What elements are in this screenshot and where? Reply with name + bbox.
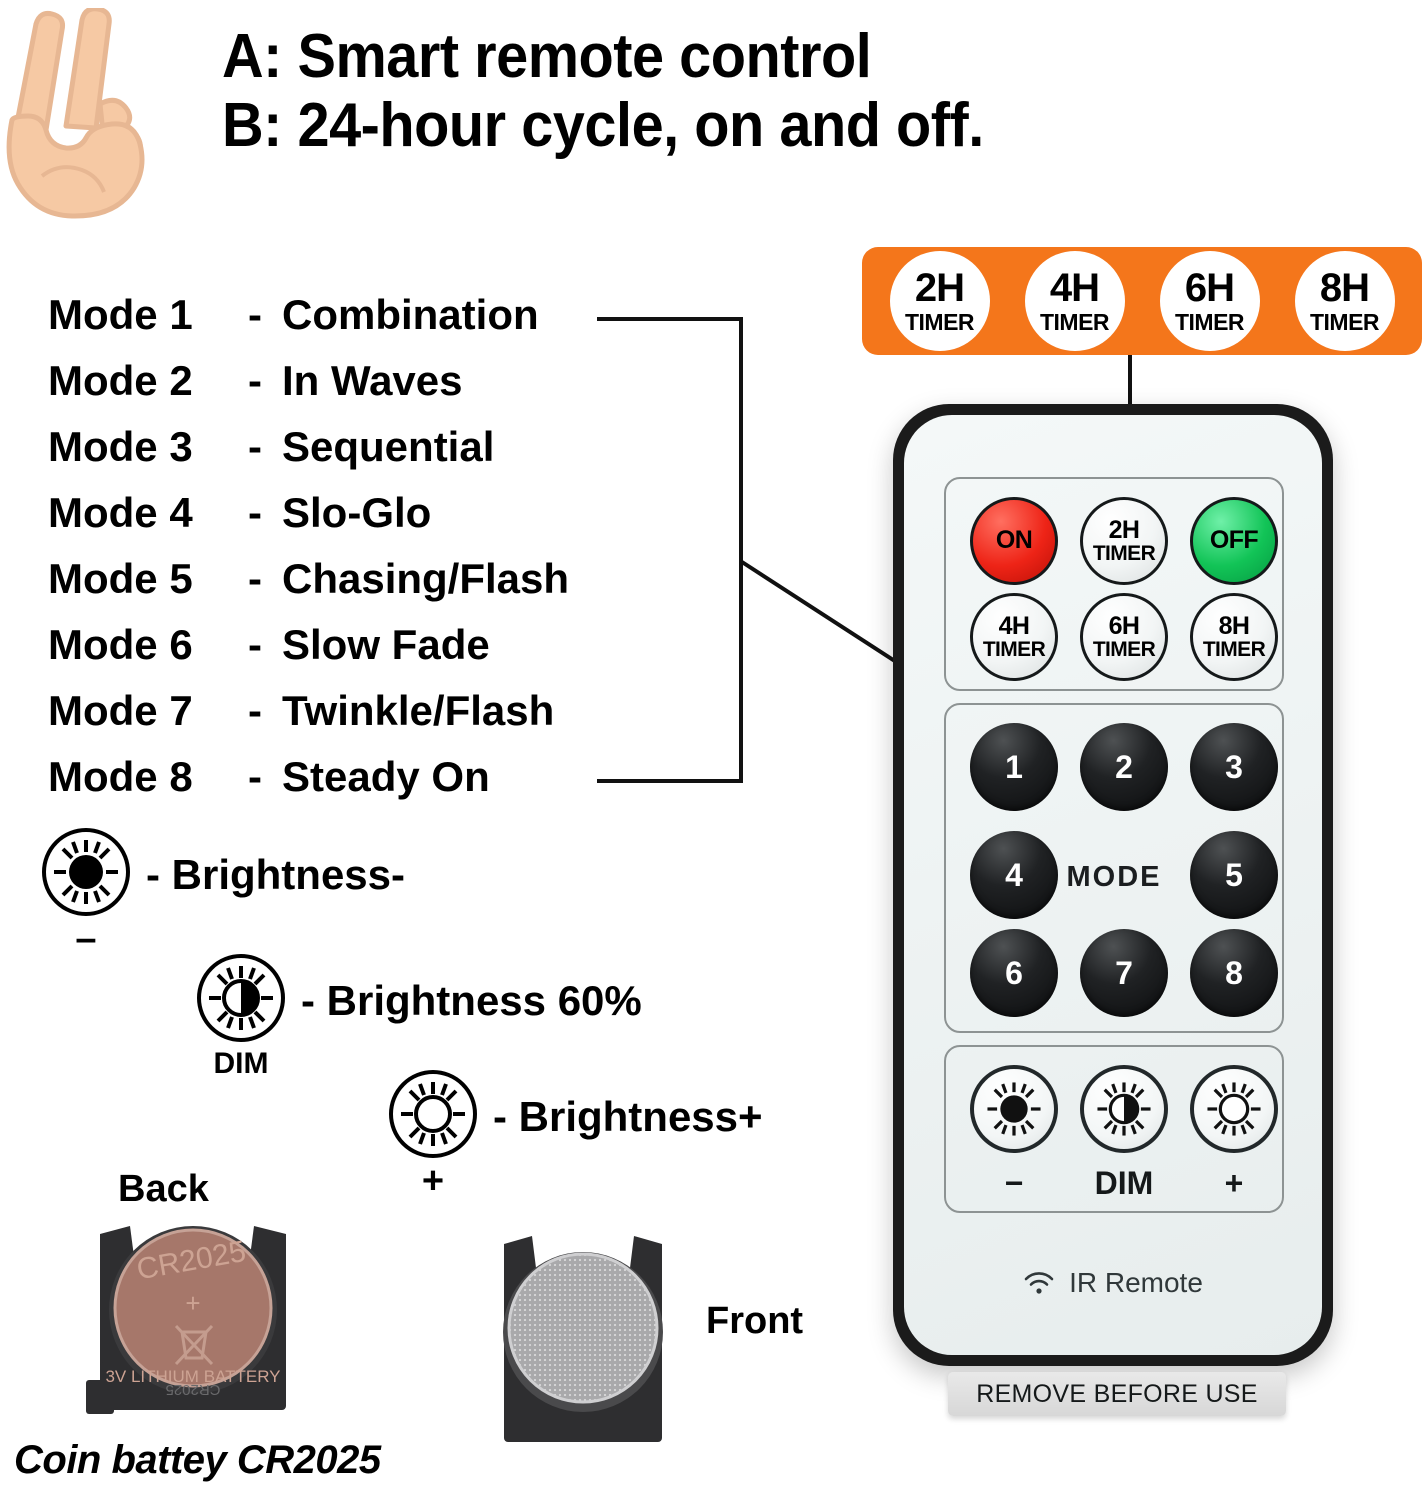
timer-8h-hours: 8H — [1219, 612, 1250, 640]
timer-6h-word: TIMER — [1093, 639, 1155, 660]
timer-chip-hours: 2H — [915, 268, 964, 308]
timer-chip-hours: 6H — [1185, 268, 1234, 308]
timer-2h-word: TIMER — [1093, 543, 1155, 564]
legend-label: - Brightness- — [146, 851, 405, 899]
mode-row: Mode 7 - Twinkle/Flash — [48, 678, 668, 744]
svg-text:+: + — [185, 1288, 200, 1318]
mode-dash: - — [248, 744, 282, 810]
timer-8h-button[interactable]: 8H TIMER — [1190, 593, 1278, 681]
legend-sub-dim: DIM — [195, 1047, 287, 1081]
timer-4h-hours: 4H — [999, 612, 1030, 640]
dim-mid-button[interactable] — [1080, 1065, 1168, 1153]
on-button[interactable]: ON — [970, 497, 1058, 585]
timer-chip-word: TIMER — [1175, 311, 1244, 334]
timer-4h-button[interactable]: 4H TIMER — [970, 593, 1058, 681]
timer-chip-6h[interactable]: 6H TIMER — [1160, 251, 1260, 351]
mode-list: Mode 1 - Combination Mode 2 - In Waves M… — [48, 282, 668, 810]
timer-chip-word: TIMER — [1040, 311, 1109, 334]
dim-minus-caption: − — [970, 1165, 1058, 1202]
legend-label: - Brightness+ — [493, 1093, 763, 1141]
remove-before-use-tab[interactable]: REMOVE BEFORE USE — [948, 1372, 1286, 1416]
mode-number: Mode 6 — [48, 612, 248, 678]
remote-control-image: ON 2H TIMER OFF 4H TIMER 6H TIMER 8H — [893, 404, 1333, 1366]
timer-6h-button[interactable]: 6H TIMER — [1080, 593, 1168, 681]
remote-face: ON 2H TIMER OFF 4H TIMER 6H TIMER 8H — [904, 415, 1322, 1355]
timer-chip-hours: 8H — [1320, 268, 1369, 308]
mode-name: Chasing/Flash — [282, 546, 569, 612]
mode-name: Combination — [282, 282, 539, 348]
sun-half-icon: DIM — [195, 952, 287, 1049]
mode-dash: - — [248, 282, 282, 348]
off-button-label: OFF — [1210, 528, 1258, 554]
coin-battery-caption: Coin battey CR2025 — [14, 1438, 381, 1483]
mode-dash: - — [248, 480, 282, 546]
off-button[interactable]: OFF — [1190, 497, 1278, 585]
battery-back-image: CR2025 + 3V LITHIUM BATTERY CR2025 — [78, 1212, 308, 1427]
mode-number: Mode 1 — [48, 282, 248, 348]
mode-name: In Waves — [282, 348, 463, 414]
mode-dash: - — [248, 678, 282, 744]
page-title: A: Smart remote control B: 24-hour cycle… — [222, 22, 1272, 161]
mode-name: Steady On — [282, 744, 490, 810]
key-3-button[interactable]: 3 — [1190, 723, 1278, 811]
timer-4h-word: TIMER — [983, 639, 1045, 660]
mode-row: Mode 5 - Chasing/Flash — [48, 546, 668, 612]
dim-label: DIM — [1080, 1165, 1168, 1202]
timer-chip-2h[interactable]: 2H TIMER — [890, 251, 990, 351]
timer-banner: 2H TIMER 4H TIMER 6H TIMER 8H TIMER — [862, 247, 1422, 355]
dim-up-button[interactable] — [1190, 1065, 1278, 1153]
mode-number: Mode 4 — [48, 480, 248, 546]
dim-plus-caption: + — [1190, 1165, 1278, 1202]
sun-empty-icon: + — [387, 1068, 479, 1165]
key-6-button[interactable]: 6 — [970, 929, 1058, 1017]
legend-brightness-down: – - Brightness- — [40, 826, 405, 923]
svg-text:CR2025: CR2025 — [165, 1381, 220, 1398]
timer-chip-4h[interactable]: 4H TIMER — [1025, 251, 1125, 351]
ir-remote-label: IR Remote — [1069, 1267, 1203, 1299]
mode-row: Mode 6 - Slow Fade — [48, 612, 668, 678]
mode-row: Mode 3 - Sequential — [48, 414, 668, 480]
sun-half-icon — [1087, 1072, 1161, 1146]
header-line-b: B: 24-hour cycle, on and off. — [222, 91, 1199, 160]
on-button-label: ON — [996, 528, 1032, 554]
mode-row: Mode 8 - Steady On — [48, 744, 668, 810]
timer-chip-hours: 4H — [1050, 268, 1099, 308]
mode-name: Slow Fade — [282, 612, 490, 678]
mode-center-label: MODE — [1038, 861, 1190, 894]
legend-label: - Brightness 60% — [301, 977, 642, 1025]
wifi-signal-icon — [1023, 1270, 1055, 1296]
legend-brightness-mid: DIM - Brightness 60% — [195, 952, 642, 1049]
mode-name: Slo-Glo — [282, 480, 431, 546]
battery-front-image — [488, 1228, 678, 1443]
mode-dash: - — [248, 546, 282, 612]
legend-brightness-up: + - Brightness+ — [387, 1068, 763, 1165]
mode-number: Mode 8 — [48, 744, 248, 810]
mode-row: Mode 1 - Combination — [48, 282, 668, 348]
mode-row: Mode 2 - In Waves — [48, 348, 668, 414]
key-1-button[interactable]: 1 — [970, 723, 1058, 811]
sun-empty-icon — [1197, 1072, 1271, 1146]
mode-number: Mode 3 — [48, 414, 248, 480]
legend-sub-minus: – — [40, 918, 132, 961]
timer-2h-hours: 2H — [1109, 516, 1140, 544]
sun-filled-icon — [977, 1072, 1051, 1146]
battery-back-label: Back — [118, 1168, 209, 1211]
ir-remote-footer: IR Remote — [904, 1267, 1322, 1299]
timer-2h-button[interactable]: 2H TIMER — [1080, 497, 1168, 585]
mode-number: Mode 5 — [48, 546, 248, 612]
mode-dash: - — [248, 414, 282, 480]
legend-sub-plus: + — [387, 1160, 479, 1203]
dim-down-button[interactable] — [970, 1065, 1058, 1153]
mode-row: Mode 4 - Slo-Glo — [48, 480, 668, 546]
timer-6h-hours: 6H — [1109, 612, 1140, 640]
battery-front-label: Front — [706, 1300, 803, 1343]
mode-dash: - — [248, 612, 282, 678]
peace-hand-icon — [2, 8, 152, 223]
key-7-button[interactable]: 7 — [1080, 929, 1168, 1017]
header-line-a: A: Smart remote control — [222, 22, 1199, 91]
mode-dash: - — [248, 348, 282, 414]
timer-chip-8h[interactable]: 8H TIMER — [1295, 251, 1395, 351]
key-8-button[interactable]: 8 — [1190, 929, 1278, 1017]
mode-list-bracket — [595, 305, 745, 795]
mode-number: Mode 2 — [48, 348, 248, 414]
sun-filled-icon: – — [40, 826, 132, 923]
mode-name: Sequential — [282, 414, 494, 480]
mode-number: Mode 7 — [48, 678, 248, 744]
timer-chip-word: TIMER — [1310, 311, 1379, 334]
timer-chip-word: TIMER — [905, 311, 974, 334]
key-2-button[interactable]: 2 — [1080, 723, 1168, 811]
timer-8h-word: TIMER — [1203, 639, 1265, 660]
mode-name: Twinkle/Flash — [282, 678, 554, 744]
key-5-button[interactable]: 5 — [1190, 831, 1278, 919]
